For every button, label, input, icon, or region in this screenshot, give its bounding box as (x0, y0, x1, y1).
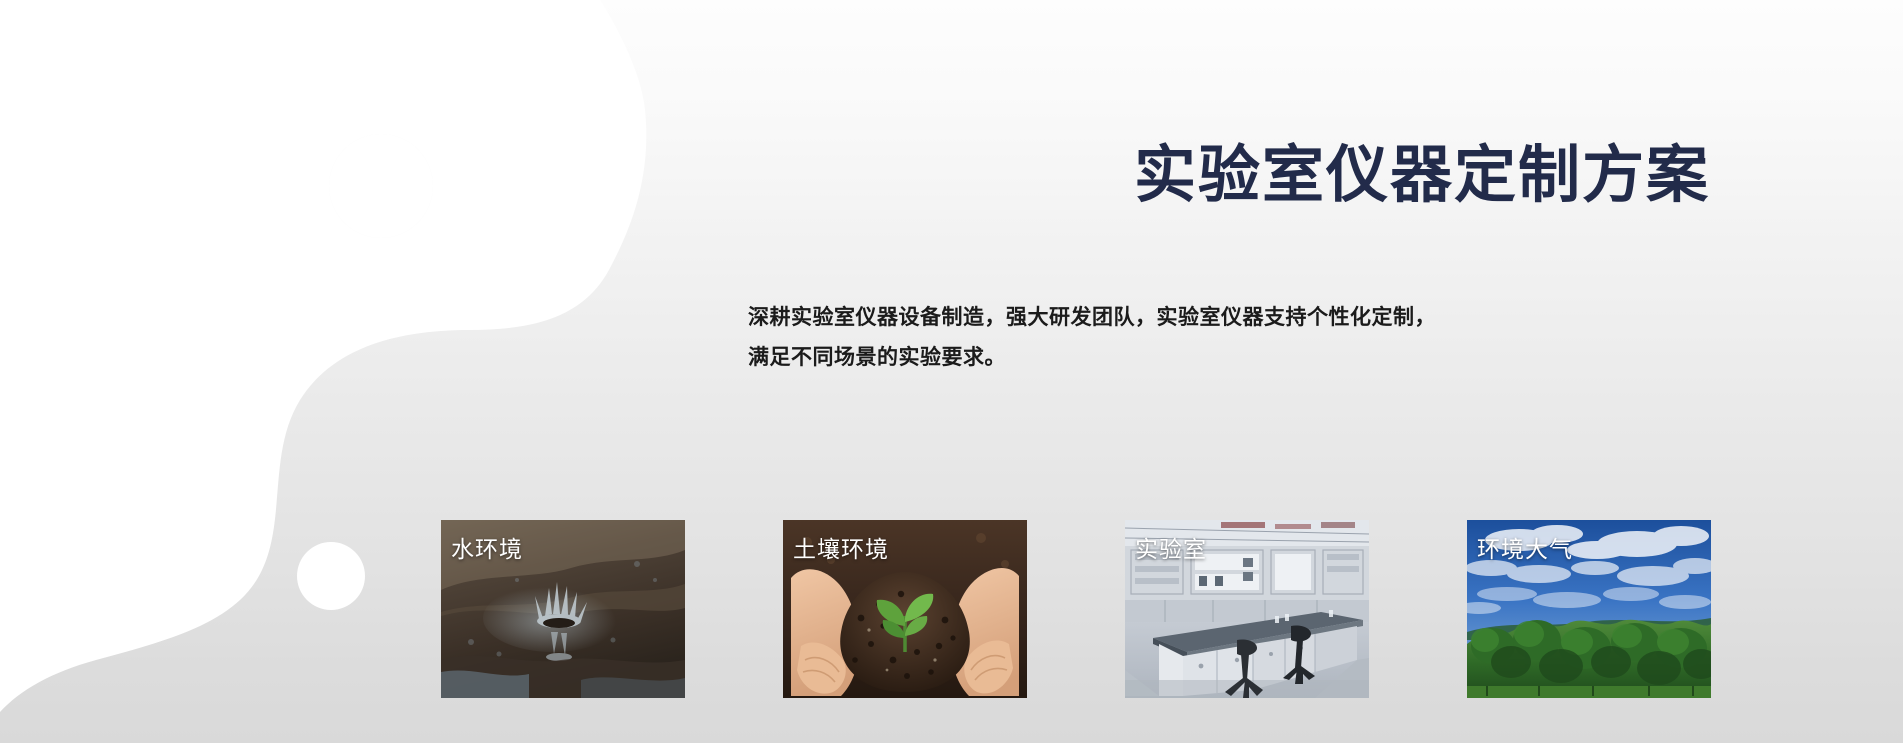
page-title: 实验室仪器定制方案 (700, 138, 1710, 214)
card-label: 水环境 (451, 535, 523, 563)
subtitle-line-1: 深耕实验室仪器设备制造，强大研发团队，实验室仪器支持个性化定制， (748, 298, 1713, 338)
category-card-soil[interactable]: 土壤环境 (783, 520, 1027, 698)
category-card-atmosphere[interactable]: 环境大气 (1467, 520, 1711, 698)
subtitle-line-2: 满足不同场景的实验要求。 (748, 338, 1713, 378)
category-card-list: 水环境 (441, 520, 1711, 698)
page-subtitle: 深耕实验室仪器设备制造，强大研发团队，实验室仪器支持个性化定制， 满足不同场景的… (748, 298, 1713, 378)
card-label: 实验室 (1135, 535, 1207, 563)
card-label: 环境大气 (1477, 535, 1573, 563)
hero-banner: 实验室仪器定制方案 深耕实验室仪器设备制造，强大研发团队，实验室仪器支持个性化定… (0, 0, 1903, 743)
category-card-laboratory[interactable]: 实验室 (1125, 520, 1369, 698)
decor-circle-large (329, 134, 433, 238)
card-label: 土壤环境 (793, 535, 889, 563)
decor-circle-small (297, 542, 365, 610)
category-card-water[interactable]: 水环境 (441, 520, 685, 698)
